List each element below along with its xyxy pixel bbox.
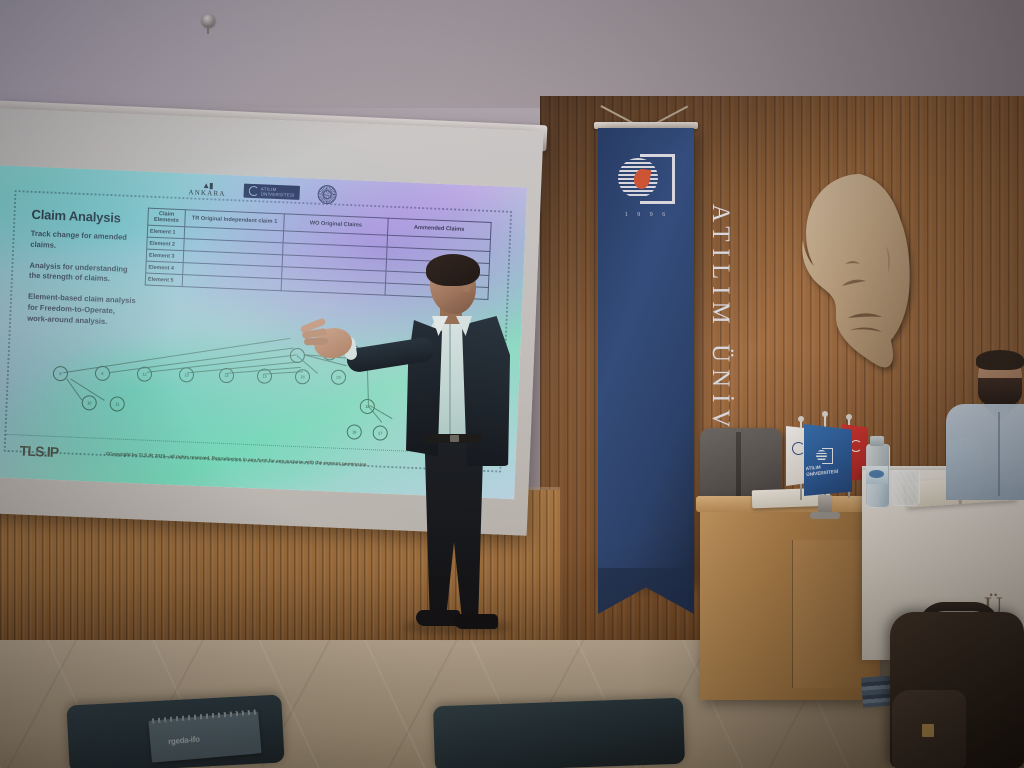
atilim-flag-square-icon <box>822 448 833 464</box>
slide-bullet: Track change for amended claims. <box>30 229 139 255</box>
tree-node: 8 <box>95 366 111 382</box>
drinking-glass-pattern <box>892 470 918 504</box>
ankara-logo: ▲▮ ANKARA <box>188 181 226 198</box>
presenter-shirt-placket <box>449 324 451 436</box>
tlsip-logo: TLS.IP <box>19 442 58 460</box>
presenter-hair <box>426 254 480 286</box>
ceiling-sprinkler-stem <box>207 25 209 34</box>
atilim-logo-icon <box>618 152 676 208</box>
table-header-cell: Claim Elements <box>148 208 185 227</box>
tree-node: 15 <box>257 368 273 384</box>
tree-node: 11 <box>109 396 125 412</box>
tree-node: 10 <box>81 395 97 411</box>
water-bottle-label-mark <box>869 470 884 478</box>
white-flag-emblem-icon <box>792 442 805 455</box>
presenter-finger <box>304 338 328 346</box>
seated-attendee-beard <box>978 378 1022 408</box>
banner-year-text: 1 9 9 6 <box>614 212 680 218</box>
presenter <box>392 258 542 658</box>
foreground-desk-right <box>433 698 685 768</box>
water-bottle-cap <box>870 436 884 446</box>
seated-attendee-arm <box>946 438 982 500</box>
seated-attendee-hair <box>976 350 1024 370</box>
atilim-logo-square-icon <box>640 154 675 204</box>
seated-attendee-placket <box>998 412 1000 496</box>
tree-node: 16 <box>295 369 311 385</box>
presenter-shoe <box>454 614 498 629</box>
tree-node: 14 <box>219 368 235 384</box>
tree-node: 19 <box>346 424 362 440</box>
tree-node: 17 <box>372 425 388 441</box>
backpack-brand-tag <box>922 724 934 737</box>
tree-node: 13 <box>179 367 195 383</box>
atilim-logo-line2: ÜNİVERSİTESİ <box>261 191 295 197</box>
table-row-label: Element 5 <box>145 273 182 287</box>
flag-finial <box>846 414 852 420</box>
lectern-side-panel <box>792 540 871 688</box>
ataturk-portrait-wall-art <box>790 168 940 393</box>
flag-finial <box>798 416 804 422</box>
atilim-logo-ring-icon <box>249 186 259 196</box>
presenter-jacket-right <box>462 316 510 466</box>
atilim-flag-logo-icon <box>816 448 832 462</box>
seal-logo-icon <box>317 184 337 204</box>
ankara-logo-text: ANKARA <box>188 189 225 198</box>
flag-finial <box>822 411 828 417</box>
tree-node: 20 <box>331 369 347 385</box>
flag-stand-base <box>810 512 840 519</box>
presenter-belt-buckle <box>450 435 459 442</box>
tree-node: 12 <box>137 366 153 382</box>
slide-bullet: Analysis for understanding the strength … <box>29 260 138 286</box>
atilim-universitesi-logo: ATILIM ÜNİVERSİTESİ <box>243 184 300 200</box>
presenter-trousers <box>422 440 486 616</box>
conference-room-scene: ▲▮ ANKARA ATILIM ÜNİVERSİTESİ Claim Anal… <box>0 0 1024 768</box>
seated-attendee <box>930 352 1024 500</box>
